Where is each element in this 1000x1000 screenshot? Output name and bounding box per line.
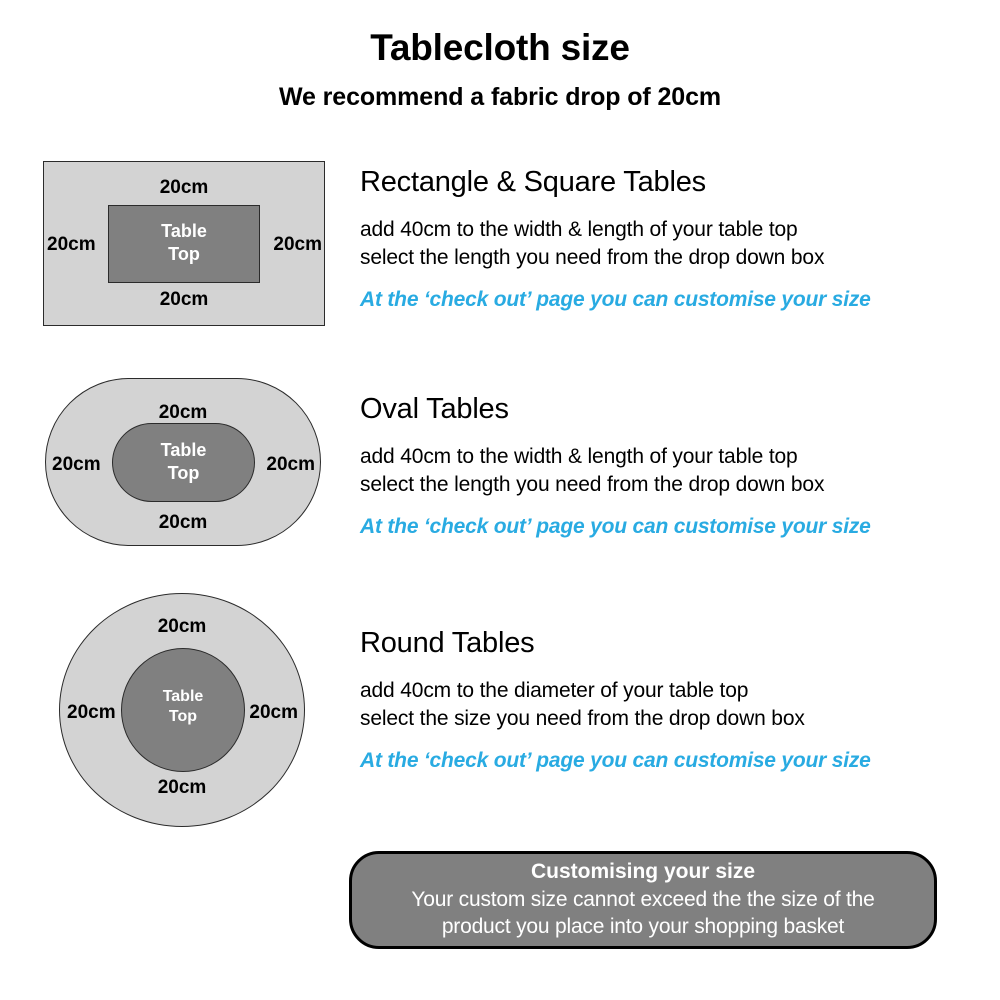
page-subtitle: We recommend a fabric drop of 20cm — [0, 84, 1000, 112]
round-line-1: add 40cm to the diameter of your table t… — [360, 677, 980, 705]
round-table-top-line2: Top — [169, 708, 197, 725]
round-table-top: Table Top — [121, 648, 245, 772]
round-table-top-line1: Table — [163, 688, 204, 705]
rectangle-checkout-note: At the ‘check out’ page you can customis… — [360, 287, 980, 312]
oval-checkout-note: At the ‘check out’ page you can customis… — [360, 514, 980, 539]
rectangle-table-top-label: Table Top — [109, 220, 259, 265]
rectangle-table-top-line2: Top — [168, 244, 200, 264]
round-heading: Round Tables — [360, 628, 980, 660]
round-text-block: Round Tables add 40cm to the diameter of… — [360, 628, 980, 773]
customising-your-size-box: Customising your size Your custom size c… — [349, 851, 937, 949]
customising-box-title: Customising your size — [531, 860, 755, 884]
oval-diagram: Table Top 20cm 20cm 20cm 20cm — [45, 378, 321, 546]
round-checkout-note: At the ‘check out’ page you can customis… — [360, 748, 980, 773]
rectangle-drop-right: 20cm — [273, 235, 322, 254]
rectangle-line-2: select the length you need from the drop… — [360, 244, 980, 272]
round-drop-top: 20cm — [59, 617, 305, 636]
rectangle-heading: Rectangle & Square Tables — [360, 167, 980, 199]
oval-text-block: Oval Tables add 40cm to the width & leng… — [360, 394, 980, 539]
round-table-top-label: Table Top — [122, 687, 244, 727]
round-drop-left: 20cm — [67, 703, 116, 722]
round-drop-bottom: 20cm — [59, 778, 305, 797]
rectangle-drop-bottom: 20cm — [43, 290, 325, 309]
rectangle-text-block: Rectangle & Square Tables add 40cm to th… — [360, 167, 980, 312]
oval-table-top-label: Table Top — [113, 439, 254, 484]
oval-table-top-line1: Table — [161, 440, 207, 460]
round-line-2: select the size you need from the drop d… — [360, 705, 980, 733]
oval-table-top: Table Top — [112, 423, 255, 502]
rectangle-drop-top: 20cm — [43, 178, 325, 197]
oval-drop-top: 20cm — [45, 403, 321, 422]
page-title: Tablecloth size — [0, 28, 1000, 69]
oval-drop-bottom: 20cm — [45, 513, 321, 532]
oval-line-1: add 40cm to the width & length of your t… — [360, 443, 980, 471]
round-drop-right: 20cm — [249, 703, 298, 722]
customising-box-line-2: product you place into your shopping bas… — [442, 913, 844, 940]
rectangle-line-1: add 40cm to the width & length of your t… — [360, 216, 980, 244]
oval-heading: Oval Tables — [360, 394, 980, 426]
rectangle-table-top: Table Top — [108, 205, 260, 283]
rectangle-drop-left: 20cm — [47, 235, 96, 254]
rectangle-diagram: Table Top 20cm 20cm 20cm 20cm — [43, 161, 325, 326]
oval-drop-right: 20cm — [266, 455, 315, 474]
oval-drop-left: 20cm — [52, 455, 101, 474]
round-diagram: Table Top 20cm 20cm 20cm 20cm — [59, 593, 305, 827]
oval-line-2: select the length you need from the drop… — [360, 471, 980, 499]
rectangle-table-top-line1: Table — [161, 221, 207, 241]
customising-box-line-1: Your custom size cannot exceed the the s… — [411, 886, 874, 913]
oval-table-top-line2: Top — [168, 463, 200, 483]
